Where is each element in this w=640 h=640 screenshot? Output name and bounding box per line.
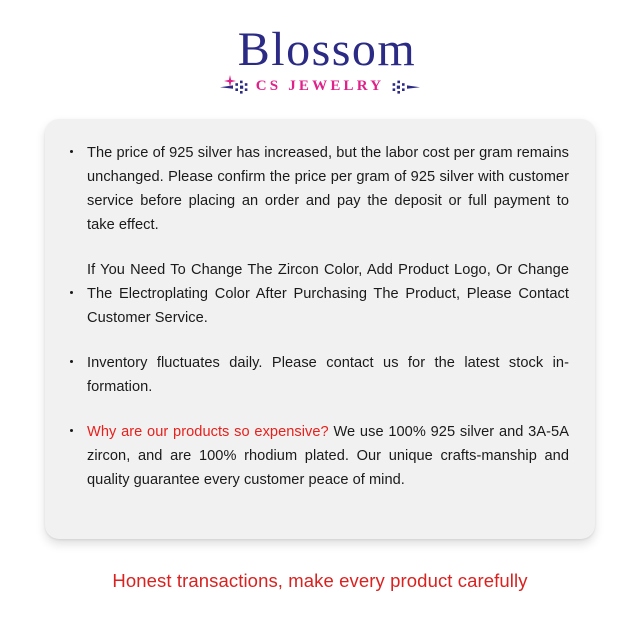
list-item: If You Need To Change The Zircon Color, … xyxy=(65,258,569,330)
bullet-dot-icon xyxy=(70,360,73,363)
sparkle-icon xyxy=(224,48,236,60)
list-item-highlight: Why are our products so expensive? xyxy=(87,424,329,440)
list-item: Inventory fluctuates daily. Please conta… xyxy=(65,351,569,399)
brand-header: Blossom CS JEWELRY xyxy=(0,0,640,95)
bullet-dot-icon xyxy=(70,429,73,432)
list-item: The price of 925 silver has increased, b… xyxy=(65,141,569,237)
list-item-text: If You Need To Change The Zircon Color, … xyxy=(87,262,569,326)
brand-wordmark-text: Blossom xyxy=(238,23,417,76)
bullet-dot-icon xyxy=(70,150,73,153)
notice-card: The price of 925 silver has increased, b… xyxy=(45,119,595,539)
list-item-text: Inventory fluctuates daily. Please conta… xyxy=(87,355,569,395)
notice-bullet-list: The price of 925 silver has increased, b… xyxy=(65,141,569,492)
brand-wordmark: Blossom xyxy=(224,26,417,74)
bullet-dot-icon xyxy=(70,291,73,294)
footer-tagline: Honest transactions, make every product … xyxy=(0,570,640,592)
list-item: Why are our products so expensive? We us… xyxy=(65,420,569,492)
snowflake-ornament-icon xyxy=(390,79,420,95)
brand-subtitle-text: CS JEWELRY xyxy=(256,78,385,95)
list-item-text: The price of 925 silver has increased, b… xyxy=(87,145,569,233)
brand-subtitle-row: CS JEWELRY xyxy=(0,78,640,95)
